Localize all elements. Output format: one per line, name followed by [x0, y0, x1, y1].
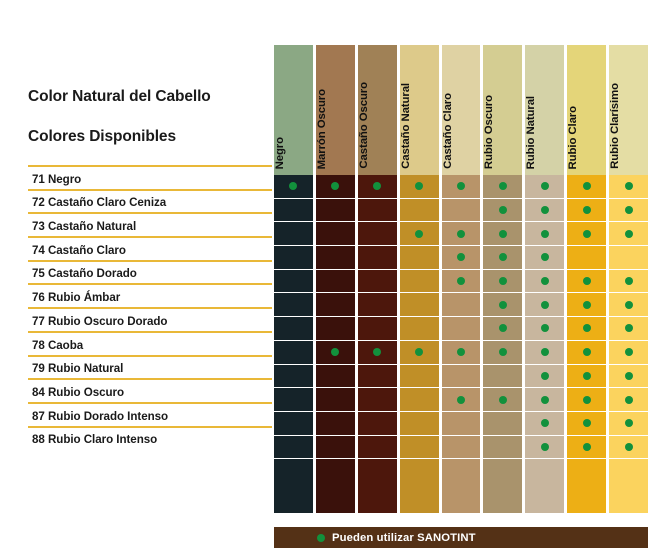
- column-header-text: Rubio Natural: [525, 96, 564, 169]
- row-label-text: 77 Rubio Oscuro Dorado: [32, 315, 167, 328]
- green-dot-icon: [499, 182, 507, 190]
- matrix-cell: [274, 341, 313, 365]
- green-dot-icon: [457, 277, 465, 285]
- matrix-cell: [567, 317, 606, 341]
- green-dot-icon: [499, 230, 507, 238]
- green-dot-icon: [583, 301, 591, 309]
- green-dot-icon: [499, 206, 507, 214]
- column-tail: [274, 459, 313, 513]
- matrix-cell: [274, 175, 313, 199]
- green-dot-icon: [541, 182, 549, 190]
- green-dot-icon: [583, 396, 591, 404]
- row-label-text: 88 Rubio Claro Intenso: [32, 433, 157, 446]
- matrix-column: Castaño Claro: [442, 45, 481, 513]
- matrix-cell: [483, 246, 522, 270]
- green-dot-icon: [541, 277, 549, 285]
- matrix-cell: [483, 293, 522, 317]
- matrix-cell: [442, 293, 481, 317]
- matrix-cell: [567, 222, 606, 246]
- green-dot-icon: [583, 443, 591, 451]
- column-header: Castaño Oscuro: [358, 45, 397, 175]
- page-title: Color Natural del Cabello: [28, 88, 274, 105]
- color-matrix: NegroMarrón OscuroCastaño OscuroCastaño …: [274, 45, 648, 513]
- matrix-cell: [483, 317, 522, 341]
- row-label-text: 73 Castaño Natural: [32, 220, 136, 233]
- matrix-cell: [400, 317, 439, 341]
- column-body: [525, 175, 564, 513]
- matrix-cell: [483, 412, 522, 436]
- column-header: Marrón Oscuro: [316, 45, 355, 175]
- matrix-cell: [400, 341, 439, 365]
- row-label: 72 Castaño Claro Ceniza: [28, 189, 272, 213]
- green-dot-icon: [625, 348, 633, 356]
- matrix-cell: [525, 388, 564, 412]
- row-label-text: 74 Castaño Claro: [32, 244, 126, 257]
- matrix-cell: [358, 246, 397, 270]
- green-dot-icon: [457, 182, 465, 190]
- green-dot-icon: [499, 253, 507, 261]
- column-header-text: Castaño Oscuro: [358, 82, 397, 169]
- column-header-text: Marrón Oscuro: [316, 89, 355, 169]
- green-dot-icon: [583, 230, 591, 238]
- row-label-column: 71 Negro72 Castaño Claro Ceniza73 Castañ…: [28, 165, 272, 449]
- matrix-cell: [483, 341, 522, 365]
- green-dot-icon: [457, 253, 465, 261]
- matrix-cell: [525, 222, 564, 246]
- row-label-text: 78 Caoba: [32, 339, 83, 352]
- matrix-cell: [358, 412, 397, 436]
- matrix-cell: [316, 341, 355, 365]
- green-dot-icon: [541, 348, 549, 356]
- green-dot-icon: [541, 443, 549, 451]
- column-body: [358, 175, 397, 513]
- matrix-cell: [525, 246, 564, 270]
- green-dot-icon: [415, 348, 423, 356]
- matrix-cell: [316, 199, 355, 223]
- matrix-cell: [525, 270, 564, 294]
- matrix-cell: [442, 199, 481, 223]
- matrix-cell: [316, 246, 355, 270]
- row-label-text: 75 Castaño Dorado: [32, 267, 137, 280]
- matrix-cell: [567, 365, 606, 389]
- row-label: 84 Rubio Oscuro: [28, 378, 272, 402]
- matrix-cell: [567, 293, 606, 317]
- column-body: [316, 175, 355, 513]
- row-label-text: 84 Rubio Oscuro: [32, 386, 124, 399]
- green-dot-icon: [457, 396, 465, 404]
- green-dot-icon: [625, 443, 633, 451]
- matrix-cell: [358, 293, 397, 317]
- matrix-column: Marrón Oscuro: [316, 45, 355, 513]
- column-tail: [483, 459, 522, 513]
- matrix-cell: [400, 436, 439, 460]
- green-dot-icon: [583, 206, 591, 214]
- green-dot-icon: [625, 324, 633, 332]
- matrix-cell: [525, 341, 564, 365]
- matrix-cell: [525, 199, 564, 223]
- matrix-cell: [567, 436, 606, 460]
- matrix-column: Negro: [274, 45, 313, 513]
- column-body: [567, 175, 606, 513]
- column-header: Rubio Claro: [567, 45, 606, 175]
- column-tail: [358, 459, 397, 513]
- column-header: Rubio Clarísimo: [609, 45, 648, 175]
- matrix-cell: [274, 199, 313, 223]
- matrix-cell: [274, 317, 313, 341]
- column-header-text: Castaño Natural: [400, 83, 439, 169]
- matrix-cell: [274, 293, 313, 317]
- matrix-cell: [442, 270, 481, 294]
- matrix-cell: [358, 199, 397, 223]
- green-dot-icon: [583, 419, 591, 427]
- green-dot-icon: [499, 277, 507, 285]
- column-tail: [316, 459, 355, 513]
- row-label: 71 Negro: [28, 165, 272, 189]
- matrix-cell: [483, 388, 522, 412]
- column-tail: [400, 459, 439, 513]
- green-dot-icon: [541, 253, 549, 261]
- matrix-cell: [442, 222, 481, 246]
- matrix-cell: [316, 412, 355, 436]
- matrix-cell: [567, 246, 606, 270]
- row-label: 74 Castaño Claro: [28, 236, 272, 260]
- green-dot-icon: [541, 419, 549, 427]
- matrix-cell: [483, 222, 522, 246]
- matrix-cell: [567, 412, 606, 436]
- matrix-column: Castaño Natural: [400, 45, 439, 513]
- matrix-cell: [609, 199, 648, 223]
- matrix-cell: [609, 270, 648, 294]
- green-dot-icon: [625, 230, 633, 238]
- green-dot-icon: [625, 372, 633, 380]
- matrix-cell: [483, 270, 522, 294]
- matrix-cell: [358, 222, 397, 246]
- column-header: Negro: [274, 45, 313, 175]
- matrix-cell: [567, 199, 606, 223]
- matrix-cell: [442, 436, 481, 460]
- green-dot-icon: [541, 230, 549, 238]
- column-tail: [525, 459, 564, 513]
- matrix-cell: [525, 175, 564, 199]
- matrix-cell: [525, 436, 564, 460]
- column-header: Castaño Claro: [442, 45, 481, 175]
- column-body: [400, 175, 439, 513]
- matrix-cell: [358, 341, 397, 365]
- matrix-cell: [609, 246, 648, 270]
- matrix-cell: [483, 436, 522, 460]
- green-dot-icon: [499, 396, 507, 404]
- sanotint-color-chart: Color Natural del Cabello Colores Dispon…: [0, 0, 651, 560]
- green-dot-icon: [373, 182, 381, 190]
- matrix-cell: [609, 222, 648, 246]
- column-body: [483, 175, 522, 513]
- matrix-cell: [442, 365, 481, 389]
- matrix-cell: [609, 317, 648, 341]
- green-dot-icon: [331, 348, 339, 356]
- matrix-cell: [442, 246, 481, 270]
- matrix-column: Rubio Clarísimo: [609, 45, 648, 513]
- matrix-cell: [316, 436, 355, 460]
- green-dot-icon: [541, 396, 549, 404]
- column-header-text: Rubio Claro: [567, 106, 606, 169]
- green-dot-icon: [541, 372, 549, 380]
- matrix-cell: [400, 246, 439, 270]
- matrix-cell: [358, 365, 397, 389]
- matrix-cell: [358, 436, 397, 460]
- matrix-cell: [609, 175, 648, 199]
- matrix-cell: [400, 293, 439, 317]
- legend-bar: Pueden utilizar SANOTINT: [274, 527, 648, 548]
- matrix-cell: [400, 365, 439, 389]
- green-dot-icon: [415, 230, 423, 238]
- row-label-text: 72 Castaño Claro Ceniza: [32, 196, 166, 209]
- green-dot-icon: [457, 230, 465, 238]
- matrix-cell: [483, 175, 522, 199]
- matrix-cell: [316, 317, 355, 341]
- matrix-cell: [567, 388, 606, 412]
- row-label-text: 71 Negro: [32, 173, 81, 186]
- matrix-cell: [274, 246, 313, 270]
- row-label: 87 Rubio Dorado Intenso: [28, 402, 272, 426]
- column-header: Rubio Natural: [525, 45, 564, 175]
- legend-label: Pueden utilizar SANOTINT: [332, 532, 476, 544]
- matrix-cell: [567, 341, 606, 365]
- matrix-cell: [274, 388, 313, 412]
- green-dot-icon: [289, 182, 297, 190]
- matrix-cell: [525, 317, 564, 341]
- matrix-cell: [400, 388, 439, 412]
- green-dot-icon: [625, 277, 633, 285]
- green-dot-icon: [499, 348, 507, 356]
- row-label-text: 76 Rubio Ámbar: [32, 291, 120, 304]
- matrix-cell: [316, 365, 355, 389]
- green-dot-icon: [415, 182, 423, 190]
- green-dot-icon: [331, 182, 339, 190]
- row-label: 73 Castaño Natural: [28, 212, 272, 236]
- matrix-cell: [358, 270, 397, 294]
- row-label: 79 Rubio Natural: [28, 355, 272, 379]
- matrix-cell: [609, 365, 648, 389]
- green-dot-icon: [583, 324, 591, 332]
- green-dot-icon: [625, 301, 633, 309]
- column-tail: [567, 459, 606, 513]
- matrix-cell: [400, 175, 439, 199]
- row-label: 75 Castaño Dorado: [28, 260, 272, 284]
- matrix-column: Rubio Claro: [567, 45, 606, 513]
- matrix-cell: [567, 175, 606, 199]
- green-dot-icon: [499, 324, 507, 332]
- matrix-cell: [400, 270, 439, 294]
- green-dot-icon: [583, 372, 591, 380]
- matrix-column: Rubio Natural: [525, 45, 564, 513]
- row-label: 77 Rubio Oscuro Dorado: [28, 307, 272, 331]
- matrix-cell: [358, 175, 397, 199]
- column-header: Castaño Natural: [400, 45, 439, 175]
- column-body: [609, 175, 648, 513]
- page-subtitle: Colores Disponibles: [28, 128, 274, 145]
- matrix-cell: [567, 270, 606, 294]
- matrix-cell: [274, 222, 313, 246]
- green-dot-icon: [317, 534, 325, 542]
- matrix-cell: [442, 175, 481, 199]
- matrix-cell: [609, 341, 648, 365]
- matrix-cell: [442, 388, 481, 412]
- column-body: [442, 175, 481, 513]
- row-label-text: 87 Rubio Dorado Intenso: [32, 410, 168, 423]
- column-header-text: Rubio Clarísimo: [609, 83, 648, 169]
- matrix-cell: [400, 199, 439, 223]
- matrix-cell: [483, 199, 522, 223]
- column-header-text: Negro: [274, 137, 313, 169]
- green-dot-icon: [541, 301, 549, 309]
- chart-headings: Color Natural del Cabello Colores Dispon…: [28, 88, 274, 145]
- matrix-cell: [316, 293, 355, 317]
- green-dot-icon: [541, 206, 549, 214]
- row-label: 78 Caoba: [28, 331, 272, 355]
- matrix-cell: [400, 412, 439, 436]
- green-dot-icon: [373, 348, 381, 356]
- green-dot-icon: [625, 206, 633, 214]
- matrix-cell: [316, 175, 355, 199]
- matrix-cell: [609, 388, 648, 412]
- matrix-column: Castaño Oscuro: [358, 45, 397, 513]
- row-label: 76 Rubio Ámbar: [28, 283, 272, 307]
- matrix-cell: [358, 317, 397, 341]
- matrix-cell: [483, 365, 522, 389]
- matrix-cell: [274, 412, 313, 436]
- matrix-cell: [609, 293, 648, 317]
- row-label-text: 79 Rubio Natural: [32, 362, 123, 375]
- column-body: [274, 175, 313, 513]
- matrix-cell: [442, 341, 481, 365]
- green-dot-icon: [625, 419, 633, 427]
- column-header-text: Rubio Oscuro: [483, 95, 522, 169]
- column-tail: [609, 459, 648, 513]
- matrix-cell: [316, 388, 355, 412]
- green-dot-icon: [499, 301, 507, 309]
- matrix-cell: [316, 270, 355, 294]
- matrix-cell: [358, 388, 397, 412]
- matrix-cell: [525, 293, 564, 317]
- green-dot-icon: [583, 182, 591, 190]
- matrix-cell: [609, 436, 648, 460]
- matrix-cell: [274, 436, 313, 460]
- column-header: Rubio Oscuro: [483, 45, 522, 175]
- matrix-cell: [274, 270, 313, 294]
- matrix-cell: [400, 222, 439, 246]
- green-dot-icon: [457, 348, 465, 356]
- matrix-cell: [525, 365, 564, 389]
- matrix-cell: [442, 317, 481, 341]
- matrix-cell: [442, 412, 481, 436]
- green-dot-icon: [625, 182, 633, 190]
- column-header-text: Castaño Claro: [442, 93, 481, 169]
- green-dot-icon: [583, 348, 591, 356]
- matrix-cell: [316, 222, 355, 246]
- matrix-cell: [525, 412, 564, 436]
- green-dot-icon: [583, 277, 591, 285]
- matrix-cell: [274, 365, 313, 389]
- matrix-column: Rubio Oscuro: [483, 45, 522, 513]
- green-dot-icon: [625, 396, 633, 404]
- green-dot-icon: [541, 324, 549, 332]
- row-label: 88 Rubio Claro Intenso: [28, 426, 272, 450]
- matrix-cell: [609, 412, 648, 436]
- column-tail: [442, 459, 481, 513]
